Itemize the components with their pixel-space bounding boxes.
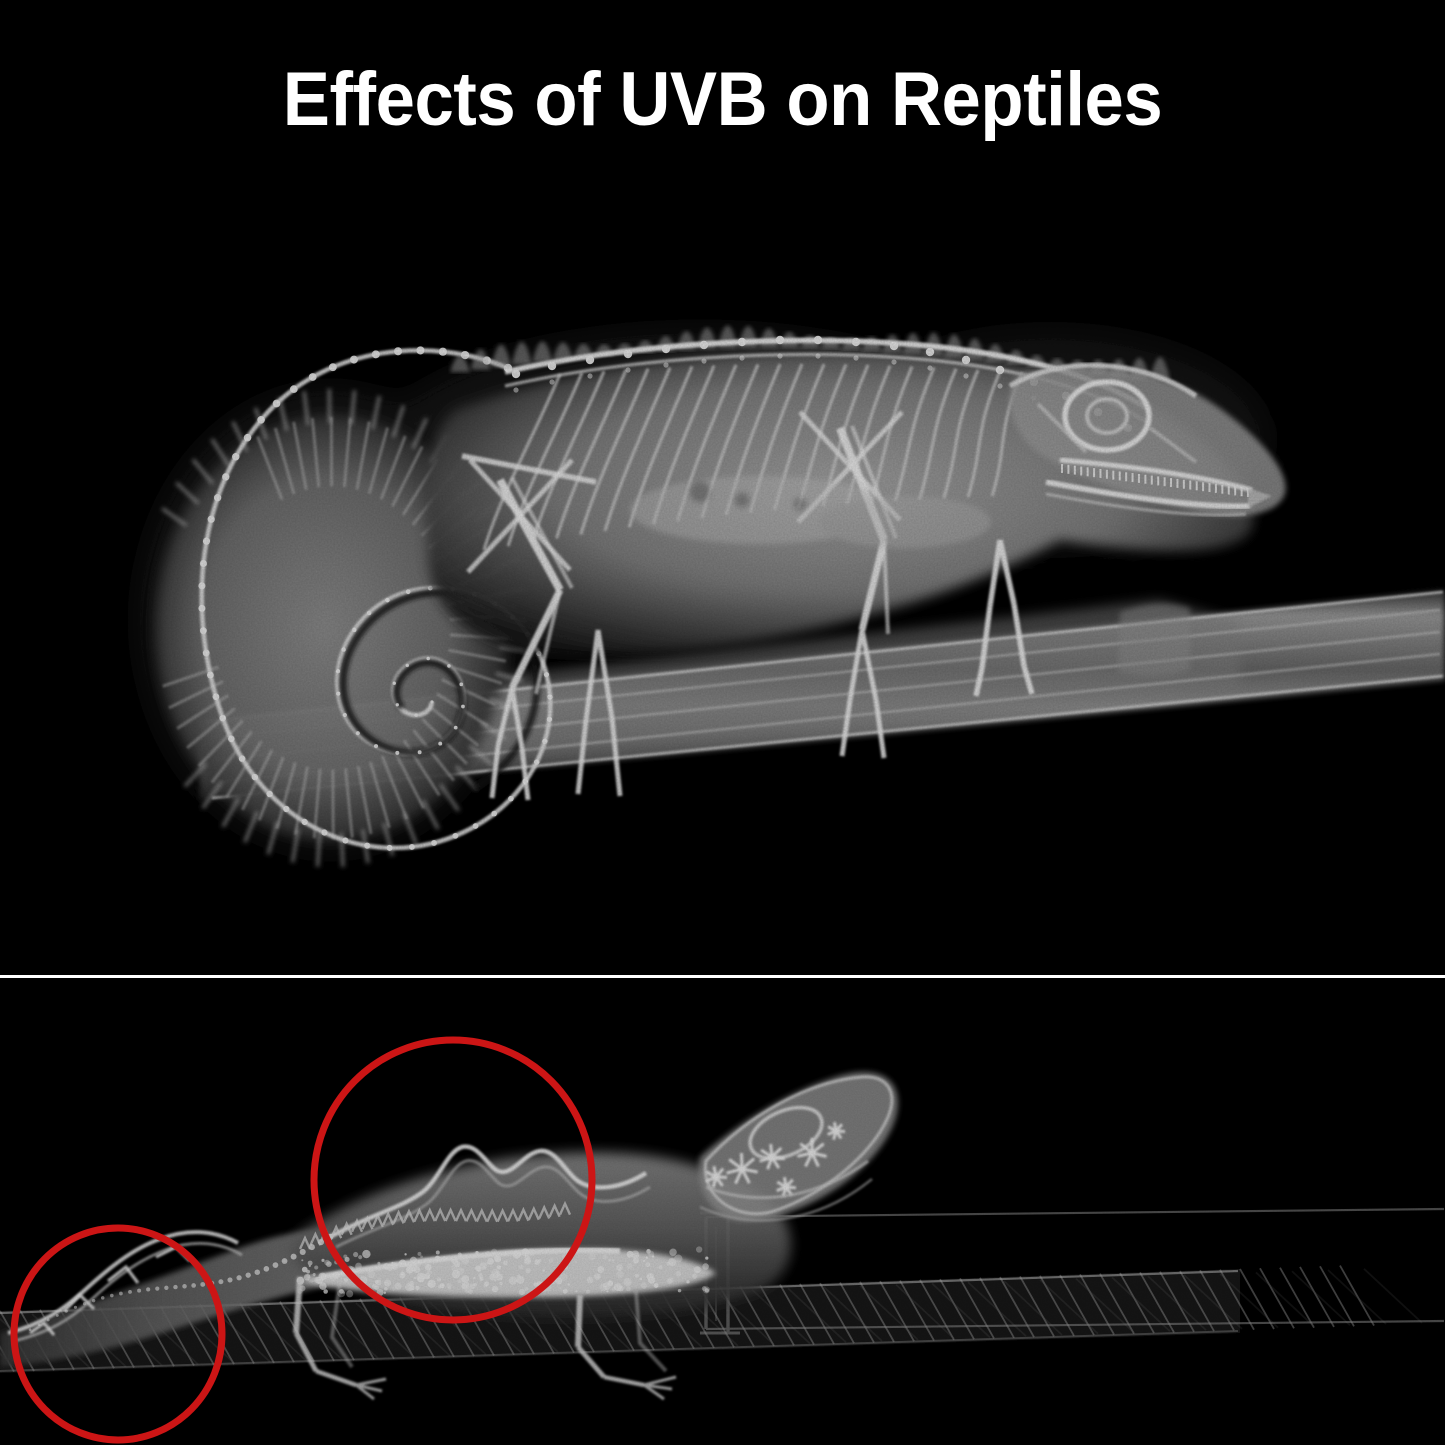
panel-normal-bones: Normal Bones — [0, 160, 1445, 975]
lizard-xray-image — [0, 981, 1445, 1445]
page-title: Effects of UVB on Reptiles — [51, 58, 1395, 142]
poster-root: Effects of UVB on Reptiles — [0, 0, 1445, 1445]
panel-skeletal-abnormalities: Skeletal Abnormalities — [0, 981, 1445, 1445]
divider-rule — [0, 975, 1445, 978]
panel-divider — [0, 972, 1445, 981]
chameleon-xray-image — [0, 160, 1445, 975]
